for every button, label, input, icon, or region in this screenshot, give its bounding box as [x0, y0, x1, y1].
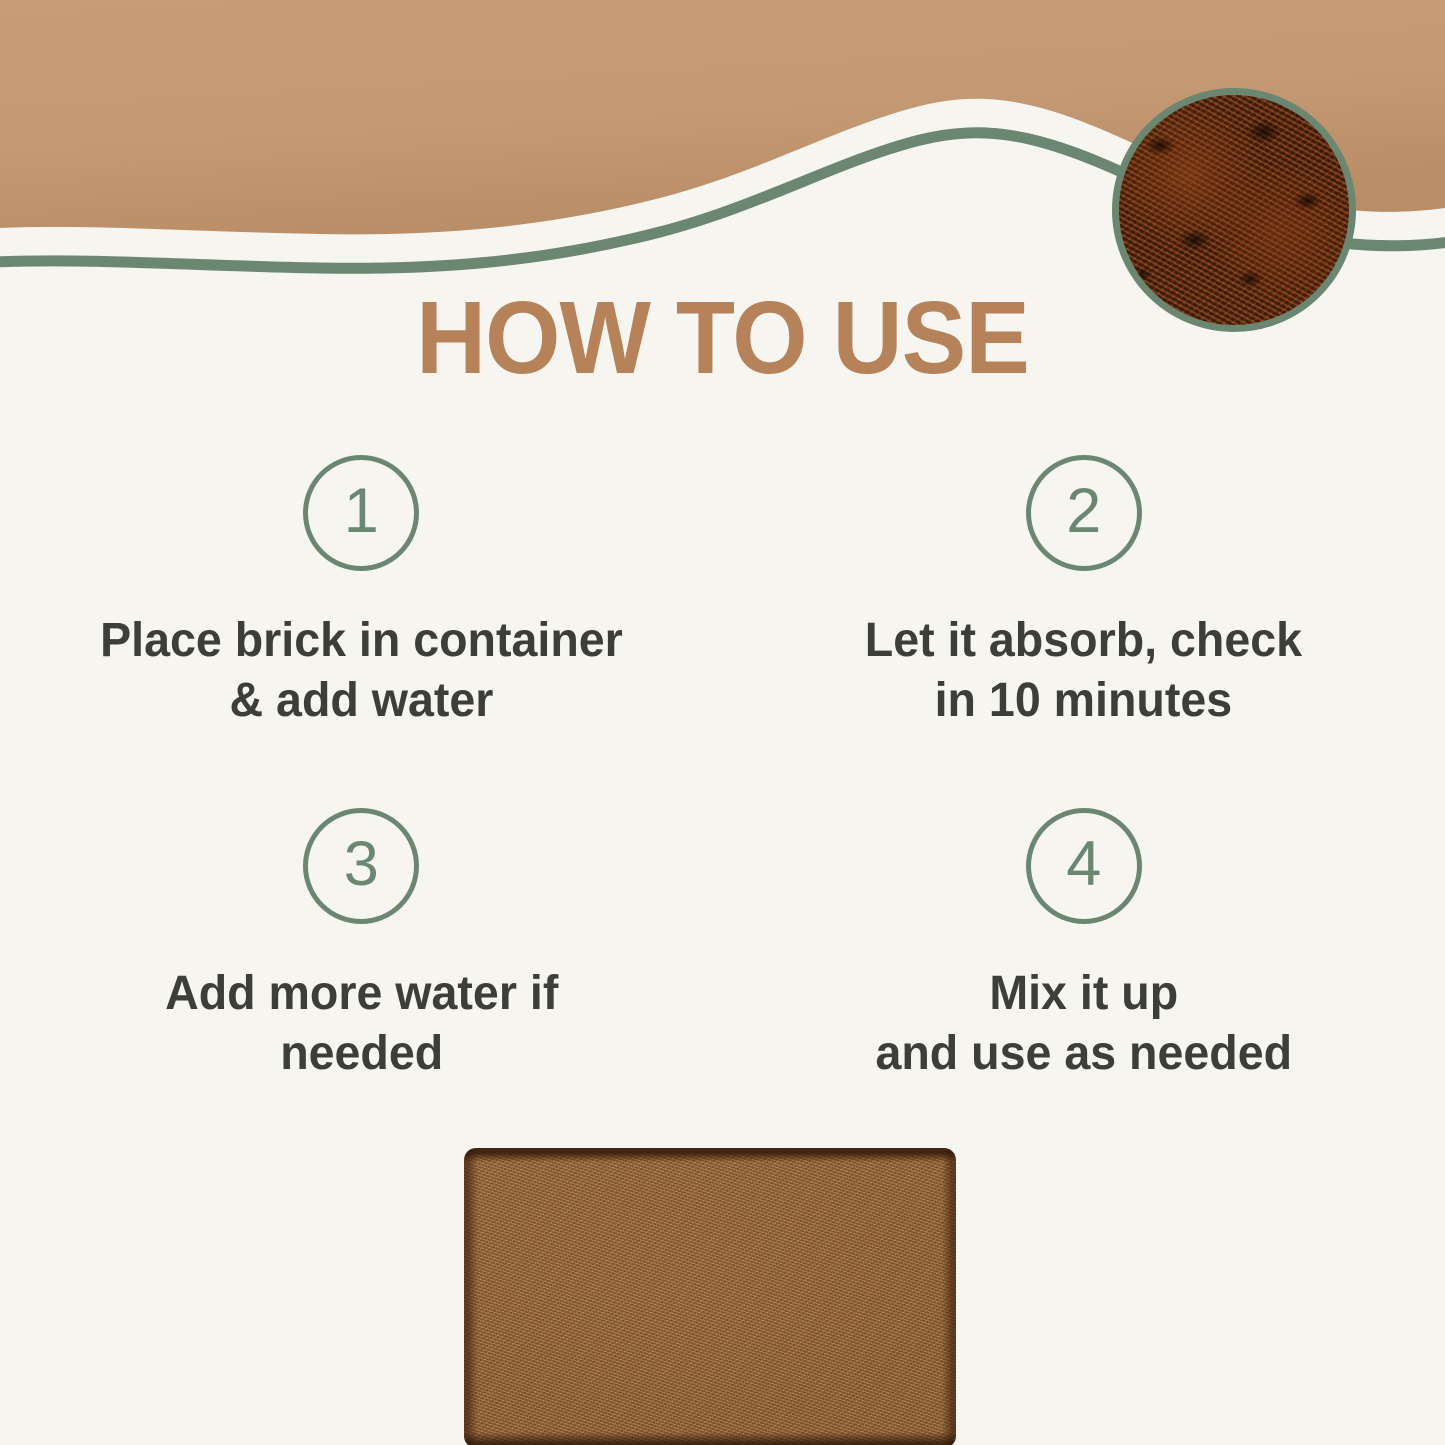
- step-item-4: 4 Mix it up and use as needed: [723, 808, 1445, 1083]
- step-item-1: 1 Place brick in container & add water: [0, 455, 723, 730]
- step-item-3: 3 Add more water if needed: [0, 808, 723, 1083]
- how-to-use-infographic: HOW TO USE 1 Place brick in container & …: [0, 0, 1445, 1445]
- step-number-badge-2: 2: [1026, 455, 1142, 571]
- step-number-badge-3: 3: [303, 808, 419, 924]
- step-label-2: Let it absorb, check in 10 minutes: [865, 611, 1302, 730]
- steps-grid: 1 Place brick in container & add water 2…: [0, 455, 1445, 1083]
- step-item-2: 2 Let it absorb, check in 10 minutes: [723, 455, 1445, 730]
- step-label-3: Add more water if needed: [165, 964, 558, 1083]
- step-number-badge-4: 4: [1026, 808, 1142, 924]
- step-label-1: Place brick in container & add water: [100, 611, 623, 730]
- coir-brick-photo: [464, 1148, 956, 1445]
- step-label-4: Mix it up and use as needed: [875, 964, 1292, 1083]
- page-title: HOW TO USE: [43, 286, 1401, 389]
- step-number-badge-1: 1: [303, 455, 419, 571]
